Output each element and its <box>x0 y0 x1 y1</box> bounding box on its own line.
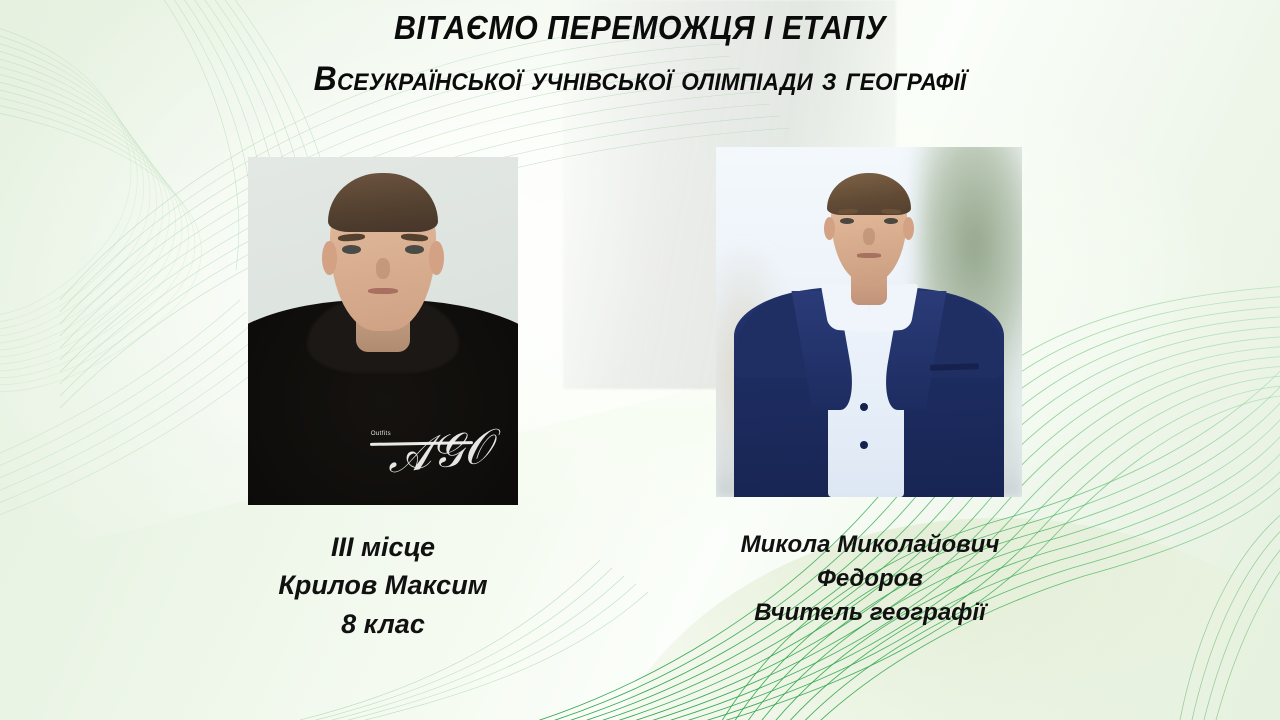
teacher-photo <box>716 147 1022 497</box>
slide-heading: ВІТАЄМО ПЕРЕМОЖЦЯ І ЕТАПУ Всеукраїнської… <box>0 10 1280 98</box>
teacher-photo-inner <box>716 147 1022 497</box>
student-place: III місце <box>188 528 578 566</box>
student-nose <box>376 258 390 279</box>
teacher-eye-right <box>884 218 898 224</box>
teacher-jacket-button-lower <box>860 441 868 449</box>
student-photo: Outfits 𝒜𝒢𝒪 <box>248 157 518 505</box>
student-hoodie-script-graphic: 𝒜𝒢𝒪 <box>385 423 500 504</box>
teacher-mouth <box>857 253 880 257</box>
title-line-primary: ВІТАЄМО ПЕРЕМОЖЦЯ І ЕТАПУ <box>51 10 1229 47</box>
student-grade: 8 клас <box>188 605 578 643</box>
teacher-eye-left <box>840 218 854 224</box>
presentation-slide: ВІТАЄМО ПЕРЕМОЖЦЯ І ЕТАПУ Всеукраїнської… <box>0 0 1280 720</box>
teacher-nose <box>863 228 874 246</box>
student-caption: III місце Крилов Максим 8 клас <box>188 528 578 643</box>
title-line-secondary: Всеукраїнської учнівської олімпіади з ге… <box>38 61 1241 98</box>
teacher-name-last: Федоров <box>670 562 1070 596</box>
student-ear-right <box>429 241 444 276</box>
student-mouth <box>368 288 398 294</box>
student-name: Крилов Максим <box>188 566 578 604</box>
teacher-caption: Микола Миколайович Федоров Вчитель геогр… <box>670 528 1070 630</box>
teacher-ear-left <box>824 217 835 240</box>
teacher-jacket-button-upper <box>860 403 868 411</box>
teacher-name-first: Микола Миколайович <box>670 528 1070 562</box>
student-photo-inner: Outfits 𝒜𝒢𝒪 <box>248 157 518 505</box>
teacher-role: Вчитель географії <box>670 596 1070 630</box>
